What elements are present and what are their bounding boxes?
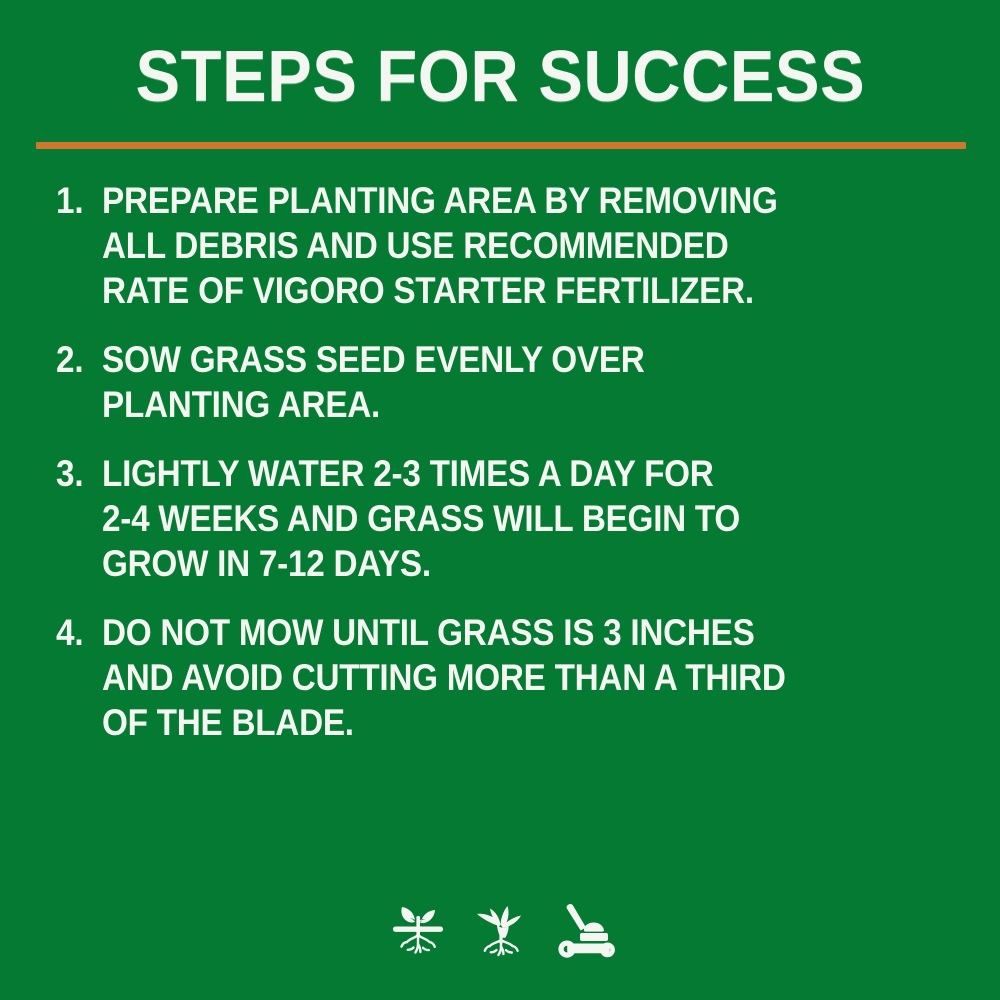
step-number: 1. — [56, 178, 97, 223]
step-line: DO NOT MOW UNTIL GRASS IS 3 INCHES — [102, 610, 871, 655]
step-number: 4. — [56, 610, 97, 655]
steps-for-success-poster: STEPS FOR SUCCESS 1. PREPARE PLANTING AR… — [0, 0, 1000, 1000]
step-line: SOW GRASS SEED EVENLY OVER — [102, 337, 871, 382]
step-line: LIGHTLY WATER 2-3 TIMES A DAY FOR — [102, 451, 871, 496]
step-line: OF THE BLADE. — [102, 700, 871, 745]
lawn-mower-icon — [548, 896, 616, 962]
step-line: AND AVOID CUTTING MORE THAN A THIRD — [102, 655, 871, 700]
grass-sprout-icon — [466, 896, 534, 962]
step-line: GROW IN 7-12 DAYS. — [102, 541, 871, 586]
page-title: STEPS FOR SUCCESS — [135, 38, 865, 116]
step-text: LIGHTLY WATER 2-3 TIMES A DAY FOR 2-4 WE… — [102, 451, 871, 586]
icon-row — [0, 896, 1000, 962]
list-item: 1. PREPARE PLANTING AREA BY REMOVING ALL… — [56, 178, 956, 313]
list-item: 2. SOW GRASS SEED EVENLY OVER PLANTING A… — [56, 337, 956, 427]
title-divider — [36, 142, 966, 149]
list-item: 4. DO NOT MOW UNTIL GRASS IS 3 INCHES AN… — [56, 610, 956, 745]
step-number: 3. — [56, 451, 97, 496]
header: STEPS FOR SUCCESS — [0, 38, 1000, 116]
list-item: 3. LIGHTLY WATER 2-3 TIMES A DAY FOR 2-4… — [56, 451, 956, 586]
seedling-in-soil-icon — [384, 896, 452, 962]
step-number: 2. — [56, 337, 97, 382]
steps-list: 1. PREPARE PLANTING AREA BY REMOVING ALL… — [56, 178, 956, 745]
step-line: ALL DEBRIS AND USE RECOMMENDED — [102, 223, 871, 268]
step-line: 2-4 WEEKS AND GRASS WILL BEGIN TO — [102, 496, 871, 541]
step-text: SOW GRASS SEED EVENLY OVER PLANTING AREA… — [102, 337, 871, 427]
step-line: PREPARE PLANTING AREA BY REMOVING — [102, 178, 871, 223]
step-text: DO NOT MOW UNTIL GRASS IS 3 INCHES AND A… — [102, 610, 871, 745]
step-text: PREPARE PLANTING AREA BY REMOVING ALL DE… — [102, 178, 871, 313]
step-line: PLANTING AREA. — [102, 382, 871, 427]
step-line: RATE OF VIGORO STARTER FERTILIZER. — [102, 268, 871, 313]
